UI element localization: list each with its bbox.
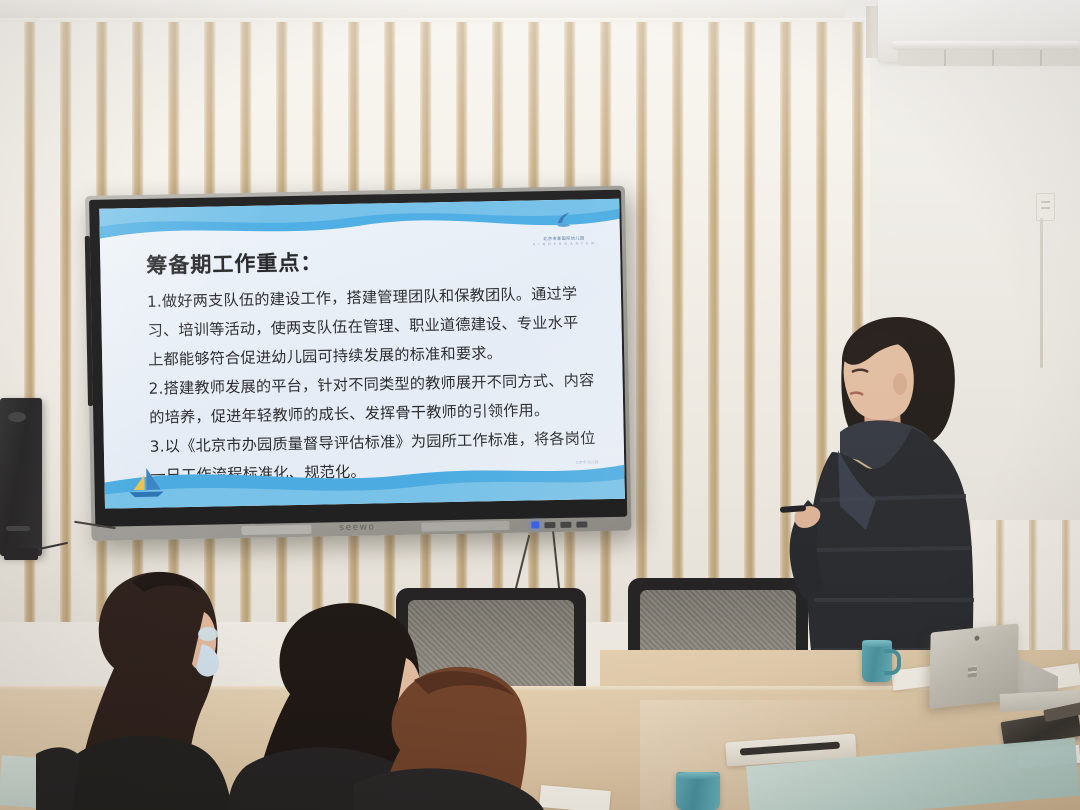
grommet-slot — [740, 742, 840, 756]
slide-paragraph-2: 2.搭建教师发展的平台，针对不同类型的教师展开不同方式、内容的培养，促进年轻教师… — [148, 366, 595, 433]
presentation-slide: 北京市某国际幼儿园 K I N D E R G A R T E N 筹备期工作重… — [99, 199, 625, 509]
attendee-3 — [354, 664, 594, 810]
wall-outlet — [1036, 193, 1055, 221]
speaker-driver — [8, 412, 26, 422]
display-controls[interactable] — [531, 518, 623, 531]
meeting-room-photo: 北京市某国际幼儿园 K I N D E R G A R T E N 筹备期工作重… — [0, 0, 1080, 810]
slide-paragraph-1: 1.做好两支队伍的建设工作，搭建管理团队和保教团队。通过学习、培训等活动，使两支… — [147, 279, 595, 375]
cup-rim — [676, 772, 720, 779]
air-conditioner-lip — [892, 41, 1080, 50]
speaker-port — [6, 526, 30, 531]
logo-english-text: K I N D E R G A R T E N — [522, 241, 606, 247]
interactive-display[interactable]: 北京市某国际幼儿园 K I N D E R G A R T E N 筹备期工作重… — [85, 186, 632, 541]
usb-port-1[interactable] — [544, 522, 555, 528]
slide-bottom-wave — [104, 447, 625, 509]
cup-handle — [884, 649, 901, 675]
display-brand-label: seewo — [317, 522, 397, 536]
teal-cup-1[interactable] — [862, 640, 892, 682]
hdmi-port[interactable] — [576, 521, 587, 527]
usb-port-2[interactable] — [560, 521, 571, 527]
display-ir-strip-right — [421, 521, 509, 532]
attendee-1-glasses — [198, 627, 218, 641]
air-conditioner-vent — [898, 50, 1080, 66]
wall-cable — [1040, 218, 1043, 368]
tablet-logo-icon — [968, 666, 977, 678]
slide-logo: 北京市某国际幼儿园 K I N D E R G A R T E N — [521, 209, 606, 247]
teal-cup-2[interactable] — [676, 772, 720, 810]
speaker-bracket — [4, 548, 38, 560]
tablet-camera-icon — [974, 635, 979, 641]
display-bezel: 北京市某国际幼儿园 K I N D E R G A R T E N 筹备期工作重… — [89, 190, 627, 527]
presenter-ear — [893, 373, 907, 395]
power-led-indicator — [531, 521, 539, 528]
display-screen[interactable]: 北京市某国际幼儿园 K I N D E R G A R T E N 筹备期工作重… — [99, 199, 625, 509]
logo-emblem-icon — [553, 210, 573, 230]
slide-title: 筹备期工作重点： — [146, 246, 323, 279]
cup-rim — [862, 640, 892, 647]
sailboat-icon — [126, 465, 167, 500]
display-ir-strip-left — [241, 525, 311, 535]
wall-speaker — [0, 398, 42, 556]
